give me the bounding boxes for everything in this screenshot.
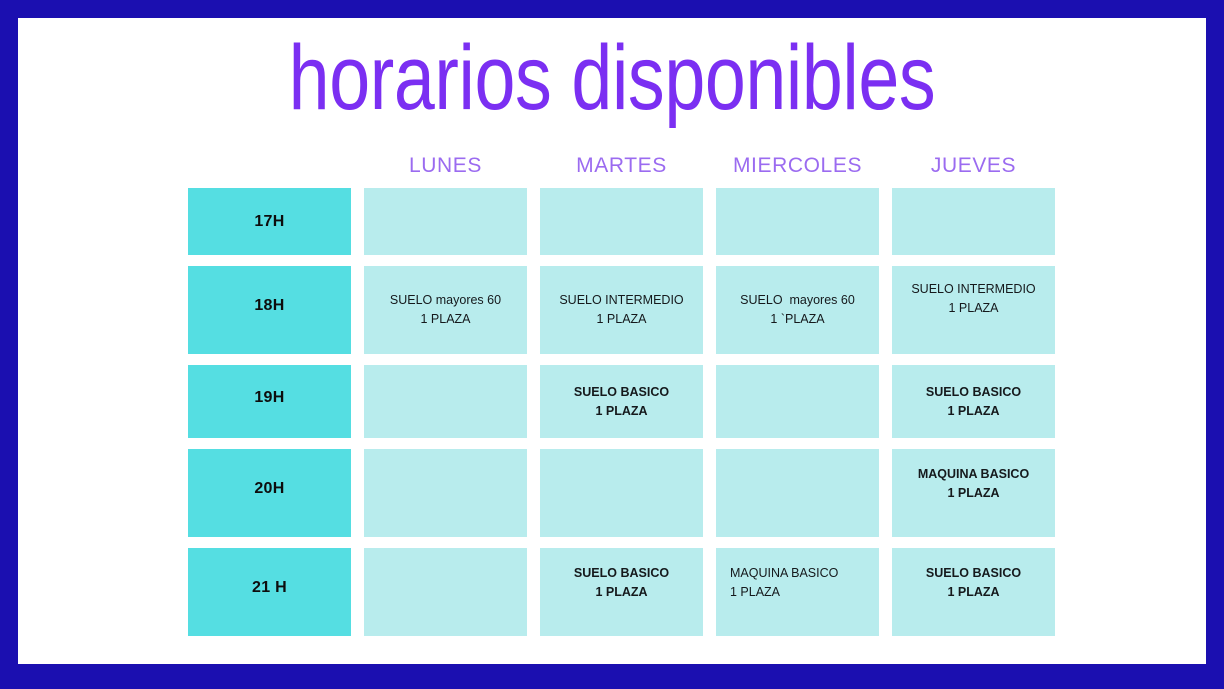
slot-text: SUELO BASICO 1 PLAZA [900,564,1047,602]
page-title: horarios disponibles [137,32,1087,124]
schedule-row: 18H SUELO mayores 60 1 PLAZA SUELO INTER… [188,266,1043,354]
slot-text: SUELO BASICO 1 PLAZA [548,383,695,421]
time-label-19h: 19H [188,365,351,438]
slot-text: SUELO BASICO 1 PLAZA [900,383,1047,421]
time-label-18h: 18H [188,266,351,354]
slot-jueves-19h[interactable]: SUELO BASICO 1 PLAZA [892,365,1055,438]
schedule-row: 21 H SUELO BASICO 1 PLAZA MAQUINA BASICO… [188,548,1043,636]
day-header-miercoles: MIERCOLES [716,154,879,182]
slot-martes-18h[interactable]: SUELO INTERMEDIO 1 PLAZA [540,266,703,354]
slot-lunes-17h[interactable] [364,188,527,255]
slot-miercoles-17h[interactable] [716,188,879,255]
schedule-header-row: LUNES MARTES MIERCOLES JUEVES [188,154,1043,182]
slot-martes-20h[interactable] [540,449,703,537]
slot-text: MAQUINA BASICO 1 PLAZA [900,465,1047,503]
time-label-21h: 21 H [188,548,351,636]
day-header-martes: MARTES [540,154,703,182]
day-header-jueves: JUEVES [892,154,1055,182]
slot-martes-17h[interactable] [540,188,703,255]
slot-martes-21h[interactable]: SUELO BASICO 1 PLAZA [540,548,703,636]
slot-jueves-17h[interactable] [892,188,1055,255]
slot-text: SUELO mayores 60 1 `PLAZA [724,291,871,329]
slot-martes-19h[interactable]: SUELO BASICO 1 PLAZA [540,365,703,438]
slot-jueves-18h[interactable]: SUELO INTERMEDIO 1 PLAZA [892,266,1055,354]
slot-text: SUELO INTERMEDIO 1 PLAZA [900,280,1047,318]
slot-text: SUELO mayores 60 1 PLAZA [372,291,519,329]
slot-miercoles-20h[interactable] [716,449,879,537]
time-label-20h: 20H [188,449,351,537]
header-corner-blank [188,154,351,182]
schedule-grid: LUNES MARTES MIERCOLES JUEVES 17H [188,154,1043,636]
slot-lunes-21h[interactable] [364,548,527,636]
slot-text: MAQUINA BASICO 1 PLAZA [730,564,871,602]
schedule-row: 17H [188,188,1043,255]
slot-text: SUELO BASICO 1 PLAZA [548,564,695,602]
slot-jueves-21h[interactable]: SUELO BASICO 1 PLAZA [892,548,1055,636]
poster-canvas: horarios disponibles LUNES MARTES MIERCO… [18,18,1206,664]
time-label-17h: 17H [188,188,351,255]
slot-lunes-20h[interactable] [364,449,527,537]
schedule-row: 19H SUELO BASICO 1 PLAZA SUELO BASICO 1 … [188,365,1043,438]
schedule-row: 20H MAQUINA BASICO 1 PLAZA [188,449,1043,537]
slot-text: SUELO INTERMEDIO 1 PLAZA [548,291,695,329]
slot-jueves-20h[interactable]: MAQUINA BASICO 1 PLAZA [892,449,1055,537]
slot-miercoles-21h[interactable]: MAQUINA BASICO 1 PLAZA [716,548,879,636]
slot-miercoles-18h[interactable]: SUELO mayores 60 1 `PLAZA [716,266,879,354]
slot-lunes-18h[interactable]: SUELO mayores 60 1 PLAZA [364,266,527,354]
slot-miercoles-19h[interactable] [716,365,879,438]
poster-frame: horarios disponibles LUNES MARTES MIERCO… [0,0,1224,689]
slot-lunes-19h[interactable] [364,365,527,438]
day-header-lunes: LUNES [364,154,527,182]
